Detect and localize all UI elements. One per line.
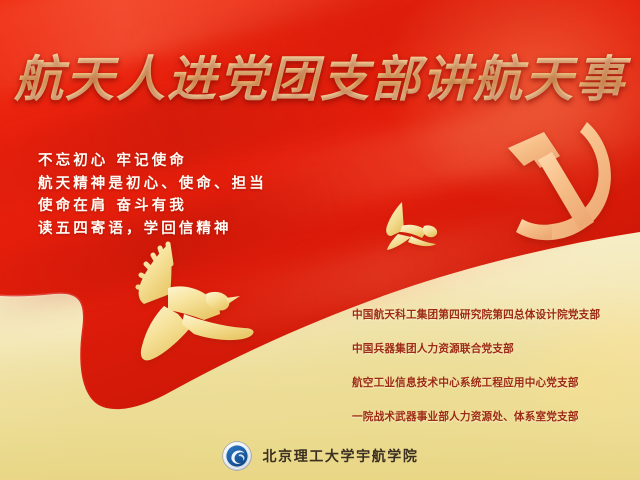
party-branch-list: 中国航天科工集团第四研究院第四总体设计院党支部 中国兵器集团人力资源联合党支部 … [352, 298, 632, 434]
peace-dove-icon [108, 238, 258, 364]
slogan-block: 不忘初心 牢记使命 航天精神是初心、使命、担当 使命在肩 奋斗有我 读五四寄语，… [38, 150, 338, 240]
footer: 北京理工大学宇航学院 [0, 441, 640, 471]
list-item: 航空工业信息技术中心系统工程应用中心党支部 [352, 366, 632, 400]
poster-canvas: 航天人进党团支部讲航天事 不忘初心 牢记使命 航天精神是初心、使命、担当 使命在… [0, 0, 640, 480]
slogan-line: 航天精神是初心、使命、担当 [38, 173, 338, 196]
footer-organization-name: 北京理工大学宇航学院 [263, 446, 419, 466]
slogan-line: 不忘初心 牢记使命 [38, 150, 338, 173]
poster-title: 航天人进党团支部讲航天事 [0, 48, 640, 110]
list-item: 中国航天科工集团第四研究院第四总体设计院党支部 [352, 298, 632, 332]
bit-school-of-aerospace-logo-icon [222, 441, 252, 471]
slogan-line: 使命在肩 奋斗有我 [38, 195, 338, 218]
list-item: 一院战术武器事业部人力资源处、体系室党支部 [352, 400, 632, 434]
peace-dove-small-icon [378, 200, 440, 252]
list-item: 中国兵器集团人力资源联合党支部 [352, 332, 632, 366]
hammer-and-sickle-icon [486, 112, 628, 254]
slogan-line: 读五四寄语，学回信精神 [38, 218, 338, 241]
